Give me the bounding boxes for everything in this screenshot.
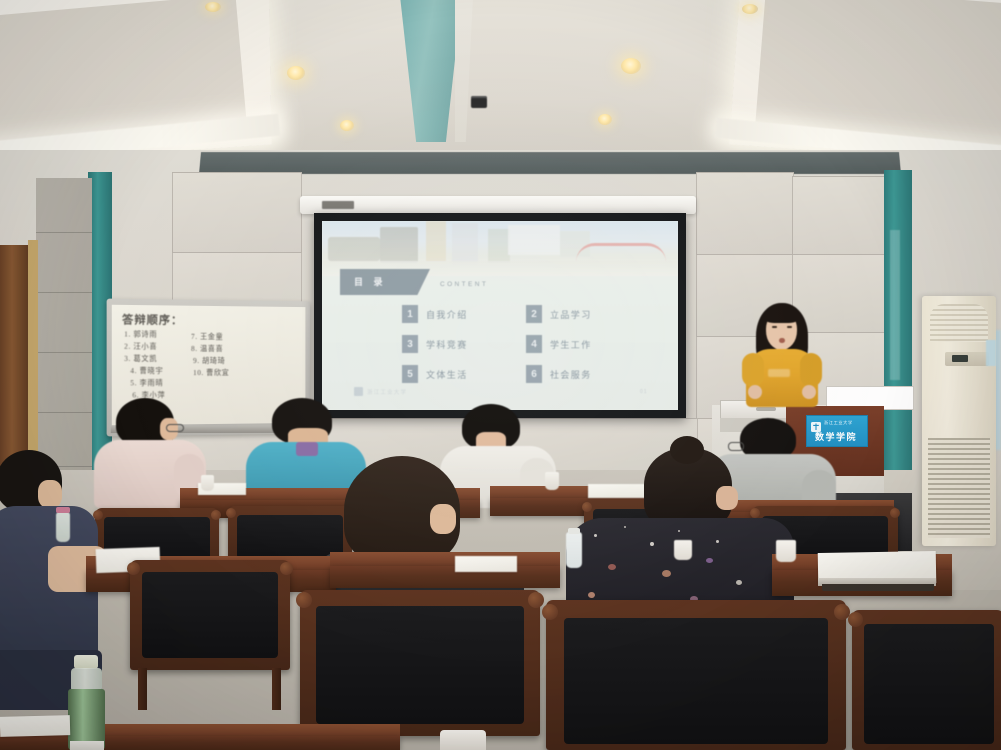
paper-cup [674, 540, 692, 560]
chair-knob [528, 592, 544, 608]
paper-cup [440, 730, 486, 750]
attendee-lanyard [296, 442, 318, 456]
chair-knob [280, 562, 293, 575]
wall-dark-band [199, 152, 901, 174]
wall-panel [792, 176, 886, 256]
chair[interactable] [546, 600, 846, 750]
chair-knob [848, 612, 863, 627]
teal-column-reflection [890, 230, 900, 380]
bottle-cap [56, 507, 70, 513]
housing-label-icon [322, 201, 354, 209]
slide-item: 4 学生工作 [526, 335, 592, 353]
pier-seam [36, 232, 92, 233]
presentation-slide: 目 录 CONTENT 1 自我介绍 2 立品学习 3 学科竞赛 4 学生工作 … [322, 221, 678, 410]
chair[interactable] [852, 610, 1001, 750]
papers-on-desk [0, 715, 70, 737]
wall-panel [172, 172, 302, 254]
chair-cushion [564, 618, 828, 744]
projection-screen: 目 录 CONTENT 1 自我介绍 2 立品学习 3 学科竞赛 4 学生工作 … [322, 221, 678, 410]
whiteboard-list-item: 9. 胡琦琦 [193, 356, 225, 366]
downlight-6 [742, 4, 758, 14]
presenter-eye-left [772, 326, 777, 328]
whiteboard-list-item: 2. 汪小喜 [124, 342, 157, 352]
slide-item-number: 3 [402, 335, 418, 353]
whiteboard-list-item: 10. 曹欣宜 [193, 368, 229, 378]
paper-cup [776, 540, 796, 562]
papers-on-desk [455, 556, 517, 572]
notebook-cover [822, 584, 934, 591]
paper-cup [545, 472, 559, 490]
bottle-label [70, 741, 104, 750]
foreground-desk-panel [0, 736, 400, 750]
downlight-5 [205, 2, 221, 12]
water-bottle [566, 532, 582, 568]
slide-item: 3 学科竞赛 [402, 335, 468, 353]
bottle-cap [74, 655, 98, 669]
presenter-shirt-print [768, 369, 790, 377]
banner-overlay-wash [322, 221, 678, 276]
slide-footer-logo: 浙江工业大学 [354, 387, 407, 396]
pier-seam [36, 292, 92, 293]
slide-item: 6 社会服务 [526, 365, 592, 383]
whiteboard-title: 答辩顺序： [122, 311, 183, 328]
slide-footer-logo-text: 浙江工业大学 [367, 388, 407, 396]
attendee-face-profile [716, 486, 738, 510]
pier-seam [36, 412, 92, 413]
chair-knob [211, 510, 221, 520]
slide-item: 2 立品学习 [526, 305, 592, 323]
presenter-sleeve-right [800, 353, 822, 387]
chair-cushion [864, 624, 994, 744]
lecture-hall-photo: 答辩顺序： 1. 郭诗雨 2. 汪小喜 3. 葛文凯 4. 曹晓宇 5. 李雨晴… [0, 0, 1001, 750]
whiteboard-list-item: 1. 郭诗雨 [124, 329, 157, 339]
downlight-3 [340, 120, 354, 131]
university-logo-icon [354, 387, 363, 396]
bottle-neck [71, 668, 102, 690]
ac-display-icon [952, 355, 968, 362]
slide-item-label: 学科竞赛 [426, 338, 468, 351]
slide-item-label: 学生工作 [550, 338, 592, 351]
downlight-2 [621, 58, 641, 74]
slide-eyebrow-label: CONTENT [440, 281, 488, 288]
slide-item-number: 4 [526, 335, 542, 353]
slide-section-tab-label: 目 录 [354, 275, 387, 288]
presenter-hand-right [802, 385, 816, 399]
slide-item: 5 文体生活 [402, 365, 468, 383]
chair-cushion [142, 572, 278, 658]
attendee-face-profile [38, 480, 62, 508]
bottle-cap [568, 528, 580, 534]
chair-knob [542, 604, 558, 620]
slide-item-number: 6 [526, 365, 542, 383]
paper-cup [201, 475, 214, 491]
chair-knob [226, 508, 236, 518]
chair-leg [272, 668, 281, 710]
desk-front-panel [330, 566, 560, 588]
chair[interactable] [130, 560, 290, 680]
whiteboard-list-item: 5. 李雨晴 [130, 378, 163, 388]
ac-bottom-vent [928, 438, 990, 538]
attendee-hair-bun [670, 436, 704, 464]
presenter-mouth [779, 338, 785, 343]
slide-item-label: 自我介绍 [426, 308, 468, 321]
whiteboard-list-item: 7. 王金童 [191, 332, 223, 342]
projector-screen-housing [300, 196, 696, 214]
pier-seam [36, 352, 92, 353]
slide-banner-photo [322, 221, 678, 276]
presenter-sleeve-left [742, 353, 764, 387]
chair-knob [296, 592, 312, 608]
slide-item-number: 5 [402, 365, 418, 383]
chair-knob [890, 508, 900, 518]
presenter [742, 303, 822, 418]
attendee-face-profile [430, 504, 456, 534]
presenter-fringe [764, 308, 799, 323]
water-bottle [56, 512, 70, 542]
water-bottle[interactable] [66, 655, 108, 750]
slide-item-label: 立品学习 [550, 308, 592, 321]
wall-panel [696, 172, 794, 256]
whiteboard-list-item: 8. 温喜喜 [191, 344, 223, 354]
downlight-4 [598, 114, 612, 125]
slide-item-label: 社会服务 [550, 368, 592, 381]
chair-knob [127, 562, 140, 575]
whiteboard-list-item: 3. 葛文凯 [124, 354, 157, 364]
chair-leg [138, 668, 147, 710]
desk [330, 552, 560, 566]
whiteboard-list-item: 4. 曹晓宇 [130, 366, 163, 376]
slide-page-number: 01 [640, 389, 648, 395]
presenter-hand-left [748, 385, 762, 399]
ceiling-sensor-icon [471, 96, 487, 108]
slide-item-label: 文体生活 [426, 368, 468, 381]
chair-cushion [316, 606, 524, 724]
ac-side-sticker [986, 340, 996, 366]
downlight-1 [287, 66, 305, 80]
slide-item-number: 2 [526, 305, 542, 323]
slide-item-number: 1 [402, 305, 418, 323]
ac-top-vent [930, 304, 988, 342]
presenter-eye-right [787, 326, 792, 328]
slide-item: 1 自我介绍 [402, 305, 468, 323]
glasses-icon [166, 424, 184, 432]
